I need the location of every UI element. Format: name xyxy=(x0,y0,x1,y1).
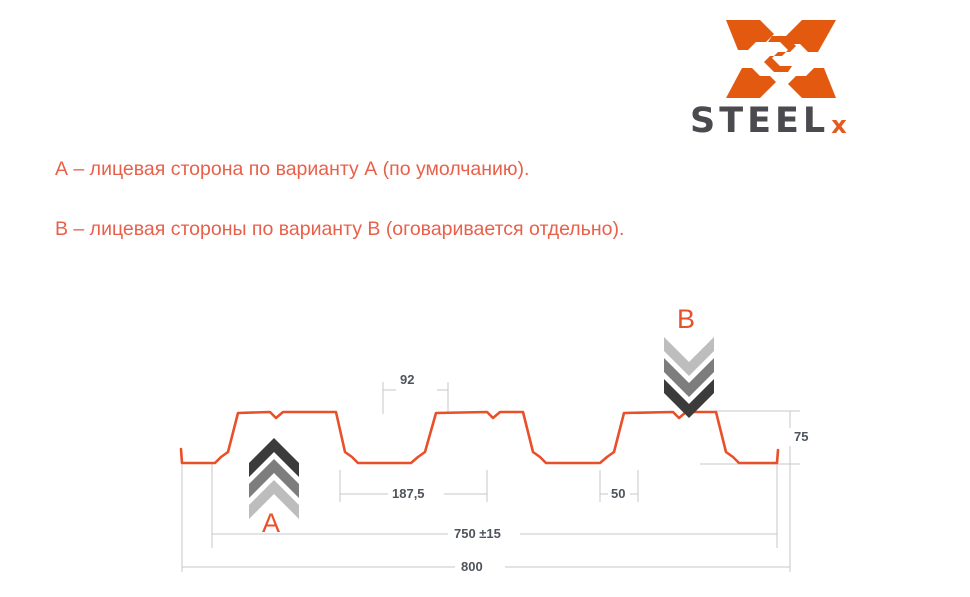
dimension-label-750: 750 ±15 xyxy=(454,527,501,540)
dimension-label-800: 800 xyxy=(461,560,483,573)
dimension-label-187-5: 187,5 xyxy=(392,487,425,500)
dimension-label-75: 75 xyxy=(794,430,808,443)
marker-a-chevrons-icon xyxy=(249,438,299,519)
dimension-label-50: 50 xyxy=(611,487,625,500)
marker-a-label: А xyxy=(262,510,280,537)
profile-technical-drawing xyxy=(0,0,970,597)
marker-b-label: В xyxy=(677,306,695,333)
dimension-label-92: 92 xyxy=(400,373,414,386)
marker-b-chevrons-icon xyxy=(664,337,714,418)
dimension-lines xyxy=(182,382,800,572)
profile-drawing-page: STEEL x А – лицевая сторона по варианту … xyxy=(0,0,970,597)
